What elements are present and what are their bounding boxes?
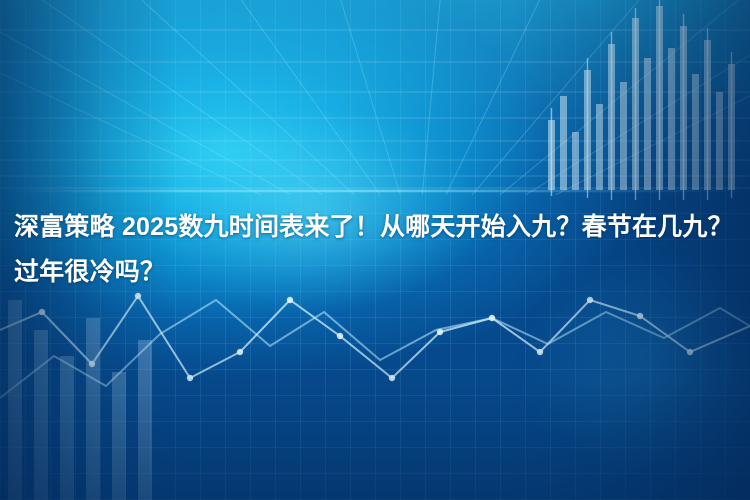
bottom-vignette <box>0 330 750 500</box>
promo-banner: 深富策略 2025数九时间表来了！从哪天开始入九？春节在几九？过年很冷吗？ <box>0 0 750 500</box>
headline-container: 深富策略 2025数九时间表来了！从哪天开始入九？春节在几九？过年很冷吗？ <box>0 205 750 295</box>
page-title: 深富策略 2025数九时间表来了！从哪天开始入九？春节在几九？过年很冷吗？ <box>14 205 736 295</box>
